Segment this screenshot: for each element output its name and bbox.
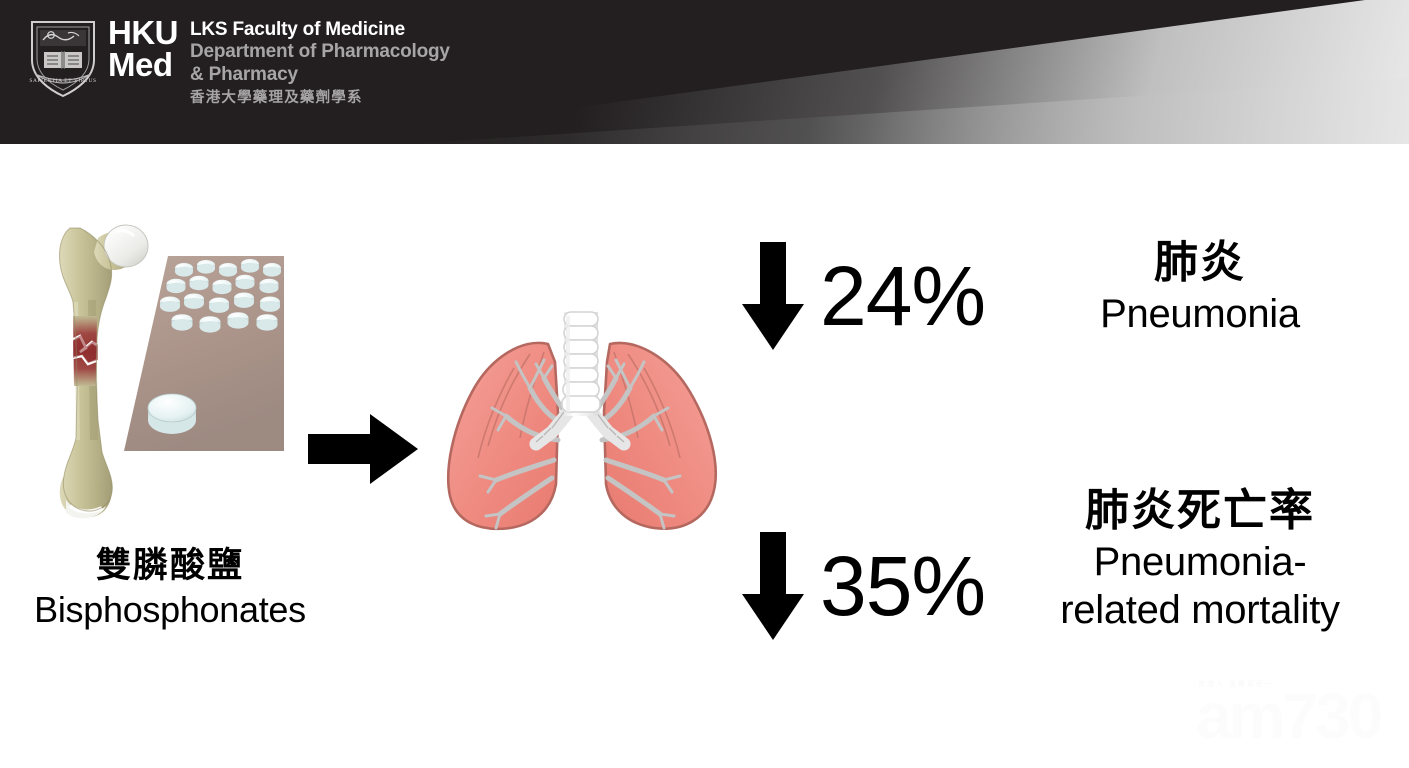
- outcome-label-pneumonia: 肺炎 Pneumonia: [1000, 236, 1400, 338]
- brand-lockup: HKU Med LKS Faculty of Medicine Departme…: [108, 17, 450, 110]
- down-arrow-icon: [742, 242, 804, 350]
- outcome-label-mortality: 肺炎死亡率 Pneumonia- related mortality: [1000, 484, 1400, 635]
- faculty-line-1: LKS Faculty of Medicine: [190, 19, 450, 41]
- brand-line-med: Med: [108, 49, 178, 81]
- outcome-label-mortality-english-line2: related mortality: [1000, 586, 1400, 635]
- stat-value-mortality: 35%: [820, 544, 985, 628]
- hku-med-wordmark: HKU Med: [108, 17, 178, 110]
- header-gradient-sweep: [309, 0, 1409, 144]
- stat-row-pneumonia: 24%: [742, 242, 985, 350]
- hku-crest-shield-icon: SAPIENTIA ET VIRTUS: [24, 16, 102, 100]
- lungs-illustration-icon: [418, 292, 748, 554]
- faculty-line-3: & Pharmacy: [190, 64, 450, 86]
- down-arrow-icon: [742, 532, 804, 640]
- bisphosphonates-image-group: [18, 182, 308, 542]
- faculty-line-2: Department of Pharmacology: [190, 41, 450, 63]
- stat-value-pneumonia: 24%: [820, 254, 985, 338]
- right-arrow-icon: [308, 412, 418, 486]
- stat-row-mortality: 35%: [742, 532, 985, 640]
- bisphosphonates-label-chinese: 雙膦酸鹽: [0, 544, 340, 588]
- brand-line-hku: HKU: [108, 17, 178, 49]
- am730-watermark-icon: am730: [1196, 684, 1380, 748]
- slide-canvas: SAPIENTIA ET VIRTUS HKU Med LKS Faculty …: [0, 0, 1409, 768]
- header-bar: SAPIENTIA ET VIRTUS HKU Med LKS Faculty …: [0, 0, 1409, 144]
- outcome-label-mortality-english-line1: Pneumonia-: [1000, 538, 1400, 587]
- svg-text:SAPIENTIA ET VIRTUS: SAPIENTIA ET VIRTUS: [29, 78, 96, 84]
- faculty-line-chinese: 香港大學藥理及藥劑學系: [190, 86, 450, 110]
- outcome-label-pneumonia-english: Pneumonia: [1000, 290, 1400, 339]
- femur-bone-fracture-icon: [40, 190, 150, 530]
- bisphosphonates-label: 雙膦酸鹽 Bisphosphonates: [0, 544, 340, 631]
- faculty-name-block: LKS Faculty of Medicine Department of Ph…: [190, 17, 450, 110]
- header-gradient-sweep-secondary: [409, 74, 1409, 144]
- outcome-label-mortality-chinese: 肺炎死亡率: [1000, 484, 1400, 538]
- bisphosphonates-label-english: Bisphosphonates: [0, 588, 340, 631]
- outcome-label-pneumonia-chinese: 肺炎: [1000, 236, 1400, 290]
